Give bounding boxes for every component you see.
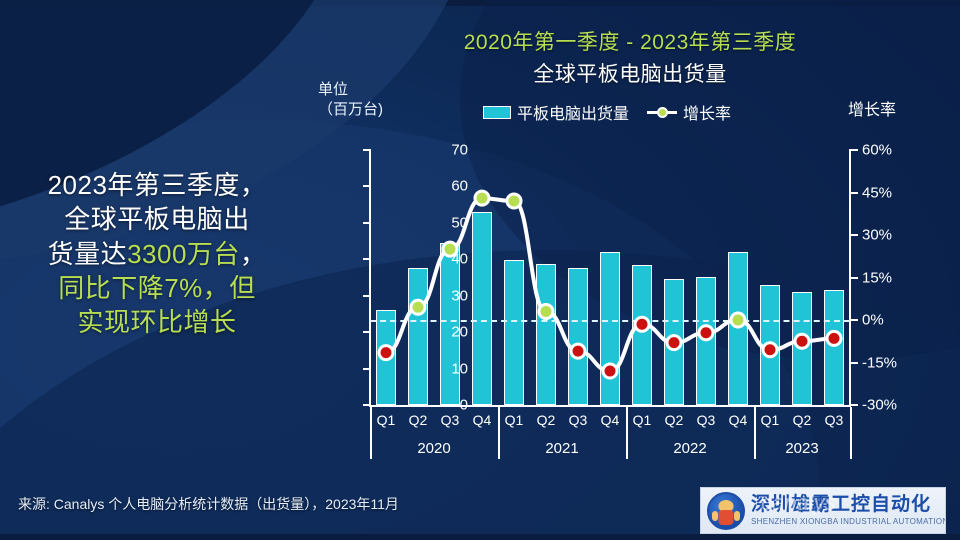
y-axis-tick-label: 60 xyxy=(408,178,468,195)
x-axis-quarter-label: Q3 xyxy=(825,412,844,428)
growth-rate-marker[interactable]: -1.5% xyxy=(635,317,649,331)
growth-rate-marker[interactable]: -4.5% xyxy=(699,326,713,340)
callout-line-1: 2023年第三季度， xyxy=(12,168,302,202)
y-axis-tick-mark xyxy=(363,222,370,224)
y-axis-tick-mark xyxy=(363,149,370,151)
callout-text: 2023年第三季度，全球平板电脑出货量达3300万台，同比下降7%，但实现环比增… xyxy=(12,168,302,340)
mascot-arm-right-icon xyxy=(734,511,740,521)
x-axis-quarter-label: Q2 xyxy=(665,412,684,428)
callout-line-5: 实现环比增长 xyxy=(12,305,302,339)
y-axis-tick-label: 0 xyxy=(408,397,468,414)
secondary-y-axis-tick-mark xyxy=(850,149,858,151)
growth-rate-marker[interactable]: -6.5% xyxy=(827,331,841,345)
x-axis-quarter-label: Q4 xyxy=(473,412,492,428)
x-axis-group-separator xyxy=(626,407,628,459)
callout-segment: 同比下降7%，但 xyxy=(58,273,256,303)
x-axis-group-separator xyxy=(498,407,500,459)
secondary-y-axis-tick-label: 15% xyxy=(862,269,932,286)
callout-line-3: 货量达3300万台， xyxy=(12,237,302,271)
logo-company-name-en: SHENZHEN XIONGBA INDUSTRIAL AUTOMATION xyxy=(751,518,946,526)
source-note: 来源: Canalys 个人电脑分析统计数据（出货量），2023年11月 xyxy=(18,494,399,514)
x-axis-quarter-label: Q1 xyxy=(633,412,652,428)
callout-segment: 2023年第三季度， xyxy=(48,170,267,200)
legend-item-2[interactable]: 增长率 xyxy=(647,100,731,124)
x-axis-year-label: 2020 xyxy=(417,440,450,457)
mascot-body-icon xyxy=(719,510,734,525)
secondary-y-axis-tick-label: 30% xyxy=(862,227,932,244)
x-axis-quarter-label: Q2 xyxy=(409,412,428,428)
chart-title-main: 全球平板电脑出货量 xyxy=(300,58,960,88)
growth-rate-marker[interactable]: 43% xyxy=(475,191,489,205)
chart-title-block: 2020年第一季度 - 2023年第三季度 全球平板电脑出货量 xyxy=(300,26,960,88)
y-axis-tick-label: 10 xyxy=(408,360,468,377)
legend-label: 平板电脑出货量 xyxy=(517,100,629,124)
growth-rate-marker[interactable]: 0% xyxy=(731,313,745,327)
secondary-y-axis-tick-label: 45% xyxy=(862,184,932,201)
unit-label-line1: 单位 xyxy=(318,80,383,100)
x-axis-quarter-label: Q3 xyxy=(697,412,716,428)
slide-canvas: 2020年第一季度 - 2023年第三季度 全球平板电脑出货量 2023年第三季… xyxy=(0,0,960,540)
secondary-y-axis-tick-mark xyxy=(850,277,858,279)
secondary-y-axis-tick-label: -15% xyxy=(862,354,932,371)
callout-segment: 货量达 xyxy=(48,239,128,269)
secondary-y-axis-tick-mark xyxy=(850,234,858,236)
growth-rate-marker[interactable]: -7.5% xyxy=(795,334,809,348)
callout-segment: 全球平板电脑出 xyxy=(64,204,250,234)
x-axis-quarter-label: Q3 xyxy=(441,412,460,428)
x-axis-quarter-label: Q1 xyxy=(377,412,396,428)
y-axis-tick-label: 30 xyxy=(408,287,468,304)
secondary-y-axis-tick-mark xyxy=(850,319,858,321)
y-axis-tick-mark xyxy=(363,368,370,370)
logo-company-name-cn: 深圳雄霸工控自动化 xyxy=(751,495,946,514)
growth-rate-marker[interactable]: -11.5% xyxy=(379,346,393,360)
x-axis-quarter-label: Q3 xyxy=(569,412,588,428)
y-axis-tick-mark xyxy=(363,404,370,406)
x-axis-quarter-label: Q4 xyxy=(601,412,620,428)
callout-segment: ， xyxy=(240,239,267,269)
y-axis-unit-label: 单位 （百万台) xyxy=(318,80,383,121)
legend-item-1[interactable]: 平板电脑出货量 xyxy=(483,100,629,124)
growth-rate-marker[interactable]: -8% xyxy=(667,336,681,350)
x-axis-quarter-label: Q1 xyxy=(761,412,780,428)
company-logo: 深圳雄霸工控自动化 SHENZHEN XIONGBA INDUSTRIAL AU… xyxy=(700,487,946,534)
y-axis-tick-mark xyxy=(363,331,370,333)
y-axis-tick-label: 20 xyxy=(408,324,468,341)
growth-rate-marker[interactable]: -18% xyxy=(603,364,617,378)
bottom-border xyxy=(0,534,960,540)
x-axis-group-separator xyxy=(370,407,372,459)
x-axis-quarter-label: Q4 xyxy=(729,412,748,428)
x-axis-year-label: 2022 xyxy=(673,440,706,457)
callout-line-2: 全球平板电脑出 xyxy=(12,202,302,236)
secondary-y-axis-tick-label: -30% xyxy=(862,397,932,414)
secondary-y-axis-tick-mark xyxy=(850,362,858,364)
mascot-icon xyxy=(707,492,745,530)
mascot-arm-left-icon xyxy=(712,511,718,521)
legend-line-marker-icon xyxy=(647,106,677,118)
secondary-axis-title: 增长率 xyxy=(848,96,896,120)
growth-rate-marker[interactable]: 42% xyxy=(507,194,521,208)
callout-segment: 实现环比增长 xyxy=(77,307,236,337)
x-axis-year-label: 2023 xyxy=(785,440,818,457)
callout-line-4: 同比下降7%，但 xyxy=(12,271,302,305)
legend-bar-swatch-icon xyxy=(483,106,511,119)
y-axis-tick-mark xyxy=(363,258,370,260)
y-axis-tick-mark xyxy=(363,295,370,297)
y-axis-tick-mark xyxy=(363,185,370,187)
chart-title-period: 2020年第一季度 - 2023年第三季度 xyxy=(300,26,960,56)
growth-rate-marker[interactable]: -10.5% xyxy=(763,343,777,357)
top-border xyxy=(0,0,960,6)
legend-dot-icon xyxy=(657,107,668,118)
secondary-y-axis-tick-label: 0% xyxy=(862,312,932,329)
secondary-y-axis-tick-mark xyxy=(850,404,858,406)
x-axis-group-separator xyxy=(850,407,852,459)
x-axis-quarter-label: Q2 xyxy=(793,412,812,428)
y-axis-tick-label: 70 xyxy=(408,142,468,159)
growth-rate-marker[interactable]: -11% xyxy=(571,344,585,358)
x-axis-group-separator xyxy=(754,407,756,459)
y-axis-tick-label: 50 xyxy=(408,214,468,231)
callout-segment: 3300万台 xyxy=(127,239,240,269)
growth-rate-marker[interactable]: 3% xyxy=(539,305,553,319)
logo-text-block: 深圳雄霸工控自动化 SHENZHEN XIONGBA INDUSTRIAL AU… xyxy=(751,495,946,526)
legend-label: 增长率 xyxy=(683,100,731,124)
secondary-y-axis-tick-label: 60% xyxy=(862,142,932,159)
x-axis-quarter-label: Q2 xyxy=(537,412,556,428)
x-axis-year-label: 2021 xyxy=(545,440,578,457)
unit-label-line2: （百万台) xyxy=(318,100,383,120)
secondary-y-axis-tick-mark xyxy=(850,192,858,194)
chart-legend: 平板电脑出货量增长率 xyxy=(483,100,731,124)
y-axis-tick-label: 40 xyxy=(408,251,468,268)
x-axis-quarter-label: Q1 xyxy=(505,412,524,428)
